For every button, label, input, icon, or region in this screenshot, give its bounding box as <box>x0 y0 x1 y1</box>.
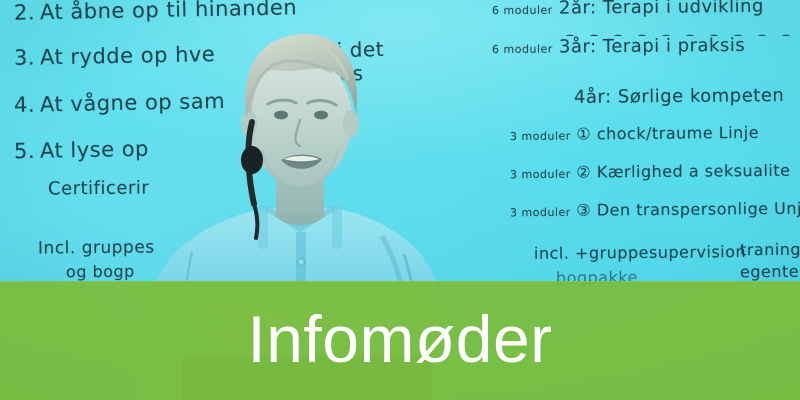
collar-right <box>332 205 342 249</box>
collar-left <box>258 205 268 249</box>
ear-right <box>343 110 359 138</box>
headset-microphone-icon <box>241 146 263 174</box>
page-title: Infomøder <box>0 281 800 400</box>
eye-left <box>274 111 288 120</box>
title-banner: Infomøder <box>0 281 800 400</box>
video-thumbnail: 2.At åbne op til hinanden 3.At rydde op … <box>0 0 800 400</box>
eye-right <box>314 111 328 120</box>
shirt-button <box>298 259 305 266</box>
